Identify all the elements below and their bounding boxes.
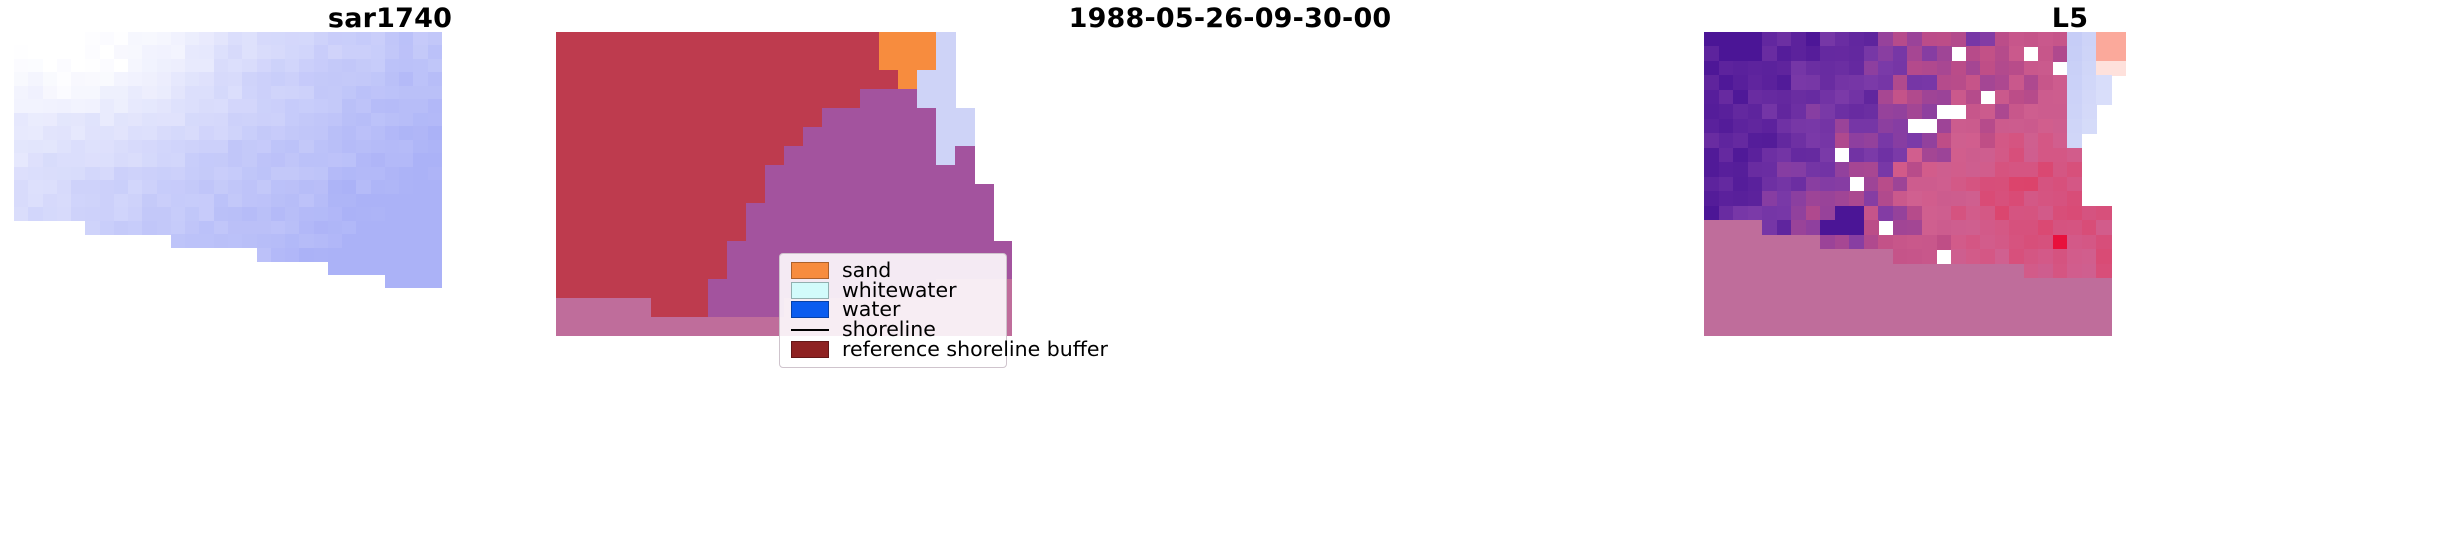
panel-title-classification: 1988-05-26-09-30-00 — [780, 2, 1680, 36]
panel-l5: L5 — [1680, 0, 2460, 544]
legend-item-reference-shoreline-buffer[interactable]: reference shoreline buffer — [791, 339, 995, 359]
reference-shoreline-buffer-swatch-icon — [791, 341, 829, 358]
panel-classification: 1988-05-26-09-30-00 sand whitewater wate… — [780, 0, 1680, 544]
figure-canvas: sar1740 1988-05-26-09-30-00 sand whitewa… — [0, 0, 2460, 544]
panel-title-sar1740: sar1740 — [0, 2, 780, 36]
whitewater-swatch-icon — [791, 282, 829, 299]
map-legend: sand whitewater water shoreline referenc… — [779, 253, 1007, 368]
raster-sar1740 — [14, 32, 442, 288]
shoreline-line-icon — [791, 321, 829, 338]
panel-title-l5: L5 — [1680, 2, 2460, 36]
sand-swatch-icon — [791, 262, 829, 279]
legend-label-reference-shoreline-buffer: reference shoreline buffer — [842, 340, 1108, 359]
raster-l5 — [1704, 32, 2140, 336]
water-swatch-icon — [791, 301, 829, 318]
